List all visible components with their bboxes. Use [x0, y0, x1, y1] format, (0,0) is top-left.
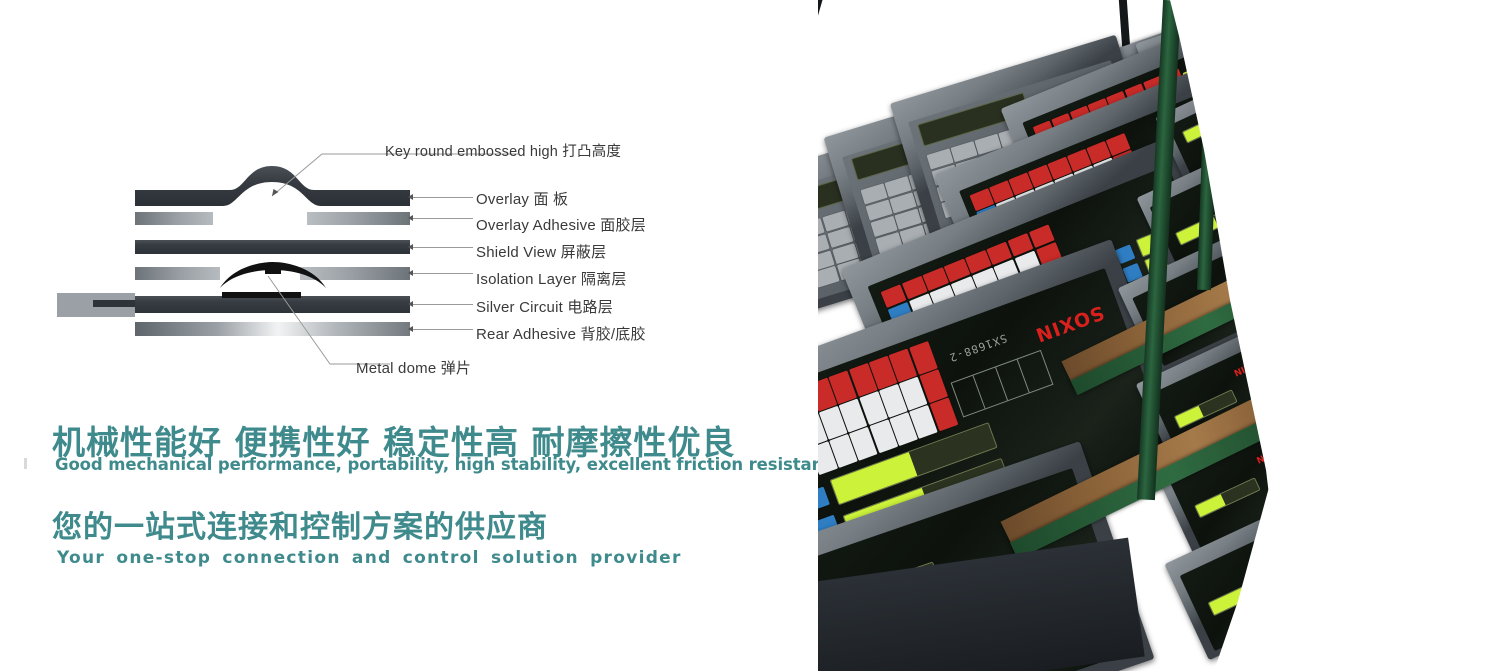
callout-arrow-overlay-adhesive [408, 215, 413, 221]
layer-isolation-left [135, 267, 220, 280]
callout-leader-isolation [413, 273, 473, 274]
callout-leader-overlay [413, 197, 473, 198]
callout-arrow-overlay [408, 194, 413, 200]
stray-artifact-mark [24, 458, 27, 469]
callout-arrow-isolation [408, 270, 413, 276]
tagline-2-chinese: 您的一站式连接和控制方案的供应商 [52, 502, 548, 546]
callout-label-rear-adhesive: Rear Adhesive 背胶/底胶 [476, 323, 646, 344]
membrane-switch-diagram: Key round embossed high 打凸高度 Overlay 面 板… [0, 0, 760, 400]
callout-leader-silver-circuit [413, 304, 473, 305]
callout-arrow-shield-view [408, 244, 413, 250]
callout-label-overlay: Overlay 面 板 [476, 188, 568, 209]
promo-banner: Key round embossed high 打凸高度 Overlay 面 板… [0, 0, 1500, 671]
layer-shield-view [135, 240, 410, 254]
callout-leader-rear-adhesive [413, 329, 473, 330]
callout-label-shield-view: Shield View 屏蔽层 [476, 241, 606, 262]
callout-label-isolation-layer: Isolation Layer 隔离层 [476, 268, 627, 289]
product-photo-dro-units: SOXIN [818, 0, 1500, 671]
layer-overlay-adhesive-left [135, 212, 213, 225]
dro-function-icon-grid [950, 350, 1053, 418]
callout-label-silver-circuit: Silver Circuit 电路层 [476, 296, 613, 317]
left-content-panel: Key round embossed high 打凸高度 Overlay 面 板… [0, 0, 818, 671]
dro-model-label: SX1688-2 [947, 331, 1009, 364]
callout-label-metal-dome: Metal dome 弹片 [356, 357, 471, 378]
callout-label-key-round-embossed-high: Key round embossed high 打凸高度 [385, 140, 621, 161]
layer-overlay-adhesive-right [307, 212, 410, 225]
callout-label-overlay-adhesive: Overlay Adhesive 面胶层 [476, 214, 646, 235]
photo-white-mask-lower [1118, 371, 1318, 671]
tagline-1-english: Good mechanical performance, portability… [55, 455, 850, 474]
callout-leader-shield-view [413, 247, 473, 248]
callout-leader-overlay-adhesive [413, 218, 473, 219]
tagline-2-english: Your one-stop connection and control sol… [57, 548, 682, 568]
dro-axis-key-x [818, 486, 830, 511]
dro-brand-logo: SOXIN [1032, 301, 1107, 346]
callout-arrow-rear-adhesive [408, 326, 413, 332]
callout-arrow-silver-circuit [408, 301, 413, 307]
